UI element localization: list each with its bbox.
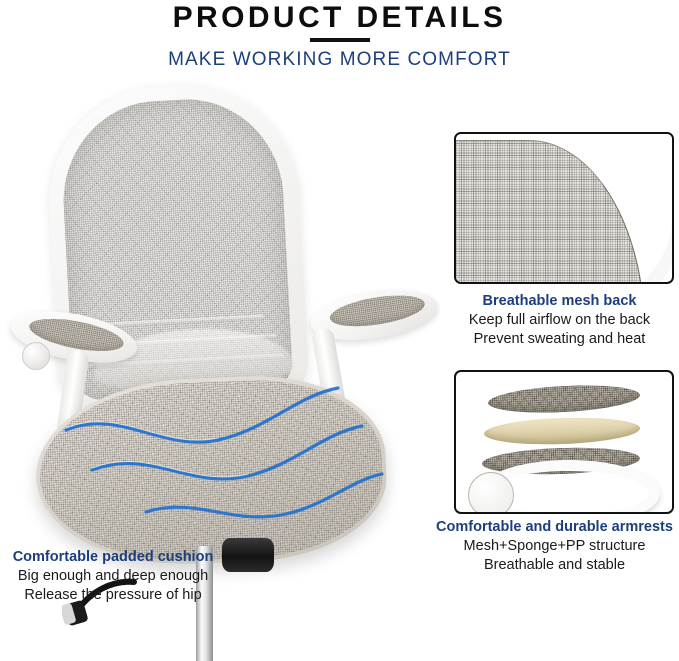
armrest-knob-left [22,342,50,370]
armrest-pivot-hub [468,472,514,514]
callout-heading: Comfortable padded cushion [0,548,226,567]
callout-heading: Comfortable and durable armrests [430,518,679,537]
panel-mesh-back-closeup [454,132,674,284]
armrest-layer-sponge [484,415,641,446]
page-title: PRODUCT DETAILS [0,2,679,34]
callout-line: Mesh+Sponge+PP structure [430,537,679,556]
callout-comfortable-padded-cushion: Comfortable padded cushion Big enough an… [0,548,226,605]
callout-breathable-mesh-back: Breathable mesh back Keep full airflow o… [440,292,679,349]
seat-mesh [37,376,385,565]
armrest-pad-right [328,290,427,332]
tilt-tension-knob [222,538,274,572]
callout-line: Keep full airflow on the back [440,311,679,330]
callout-line: Prevent sweating and heat [440,330,679,349]
callout-line: Release the pressure of hip [0,586,226,605]
page-subtitle: MAKE WORKING MORE COMFORT [0,48,679,72]
callout-heading: Breathable mesh back [440,292,679,311]
callout-line: Breathable and stable [430,556,679,575]
callout-line: Big enough and deep enough [0,567,226,586]
armrest-layer-mesh-top [487,382,640,416]
backrest-rib [96,315,264,329]
callout-comfortable-durable-armrests: Comfortable and durable armrests Mesh+Sp… [430,518,679,575]
header: PRODUCT DETAILS MAKE WORKING MORE COMFOR… [0,0,679,78]
panel-armrest-exploded [454,370,674,514]
title-divider [310,38,370,42]
